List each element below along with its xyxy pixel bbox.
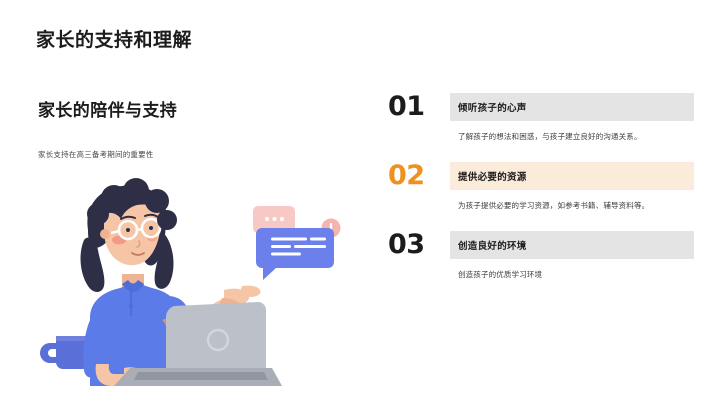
list-item-number: 03 xyxy=(388,230,450,260)
list-item-title: 倾听孩子的心声 xyxy=(450,93,694,121)
list-item-title: 创造良好的环境 xyxy=(450,231,694,259)
section-heading: 家长的陪伴与支持 xyxy=(38,96,368,121)
list-item-title: 提供必要的资源 xyxy=(450,162,694,190)
list-item[interactable]: 02 提供必要的资源 为孩子提供必要的学习资源，如参考书籍、辅导资料等。 xyxy=(388,161,694,212)
list-item[interactable]: 01 倾听孩子的心声 了解孩子的想法和困惑，与孩子建立良好的沟通关系。 xyxy=(388,92,694,143)
page-title: 家长的支持和理解 xyxy=(36,25,192,52)
list-item-description: 了解孩子的想法和困惑，与孩子建立良好的沟通关系。 xyxy=(450,130,676,143)
shirt-button xyxy=(129,304,133,308)
numbered-list: 01 倾听孩子的心声 了解孩子的想法和困惑，与孩子建立良好的沟通关系。 02 提… xyxy=(388,92,694,281)
hair-curl-d xyxy=(145,189,169,213)
slide-root: 家长的支持和理解 家长的陪伴与支持 家长支持在高三备考期间的重要性 xyxy=(0,0,720,404)
laptop-lid xyxy=(166,302,266,376)
section-caption: 家长支持在高三备考期间的重要性 xyxy=(38,149,368,160)
eye-right xyxy=(149,226,153,230)
illustration-woman-at-laptop xyxy=(18,178,366,386)
coffee-mug xyxy=(40,336,90,369)
chat-bubble-group xyxy=(253,206,341,280)
list-item-description: 为孩子提供必要的学习资源，如参考书籍、辅导资料等。 xyxy=(450,199,676,212)
eye-left xyxy=(126,228,130,232)
list-item-number: 02 xyxy=(388,161,450,191)
ear xyxy=(100,229,110,239)
list-item-description: 创造孩子的优质学习环境 xyxy=(450,268,676,281)
left-column: 家长的陪伴与支持 家长支持在高三备考期间的重要性 xyxy=(38,96,368,160)
laptop-keyboard xyxy=(134,372,268,380)
hair-curl-e xyxy=(157,210,177,230)
list-item-number: 01 xyxy=(388,92,450,122)
list-item[interactable]: 03 创造良好的环境 创造孩子的优质学习环境 xyxy=(388,230,694,281)
hair-curl-b xyxy=(101,185,127,211)
message-bubble-blue xyxy=(256,228,334,280)
